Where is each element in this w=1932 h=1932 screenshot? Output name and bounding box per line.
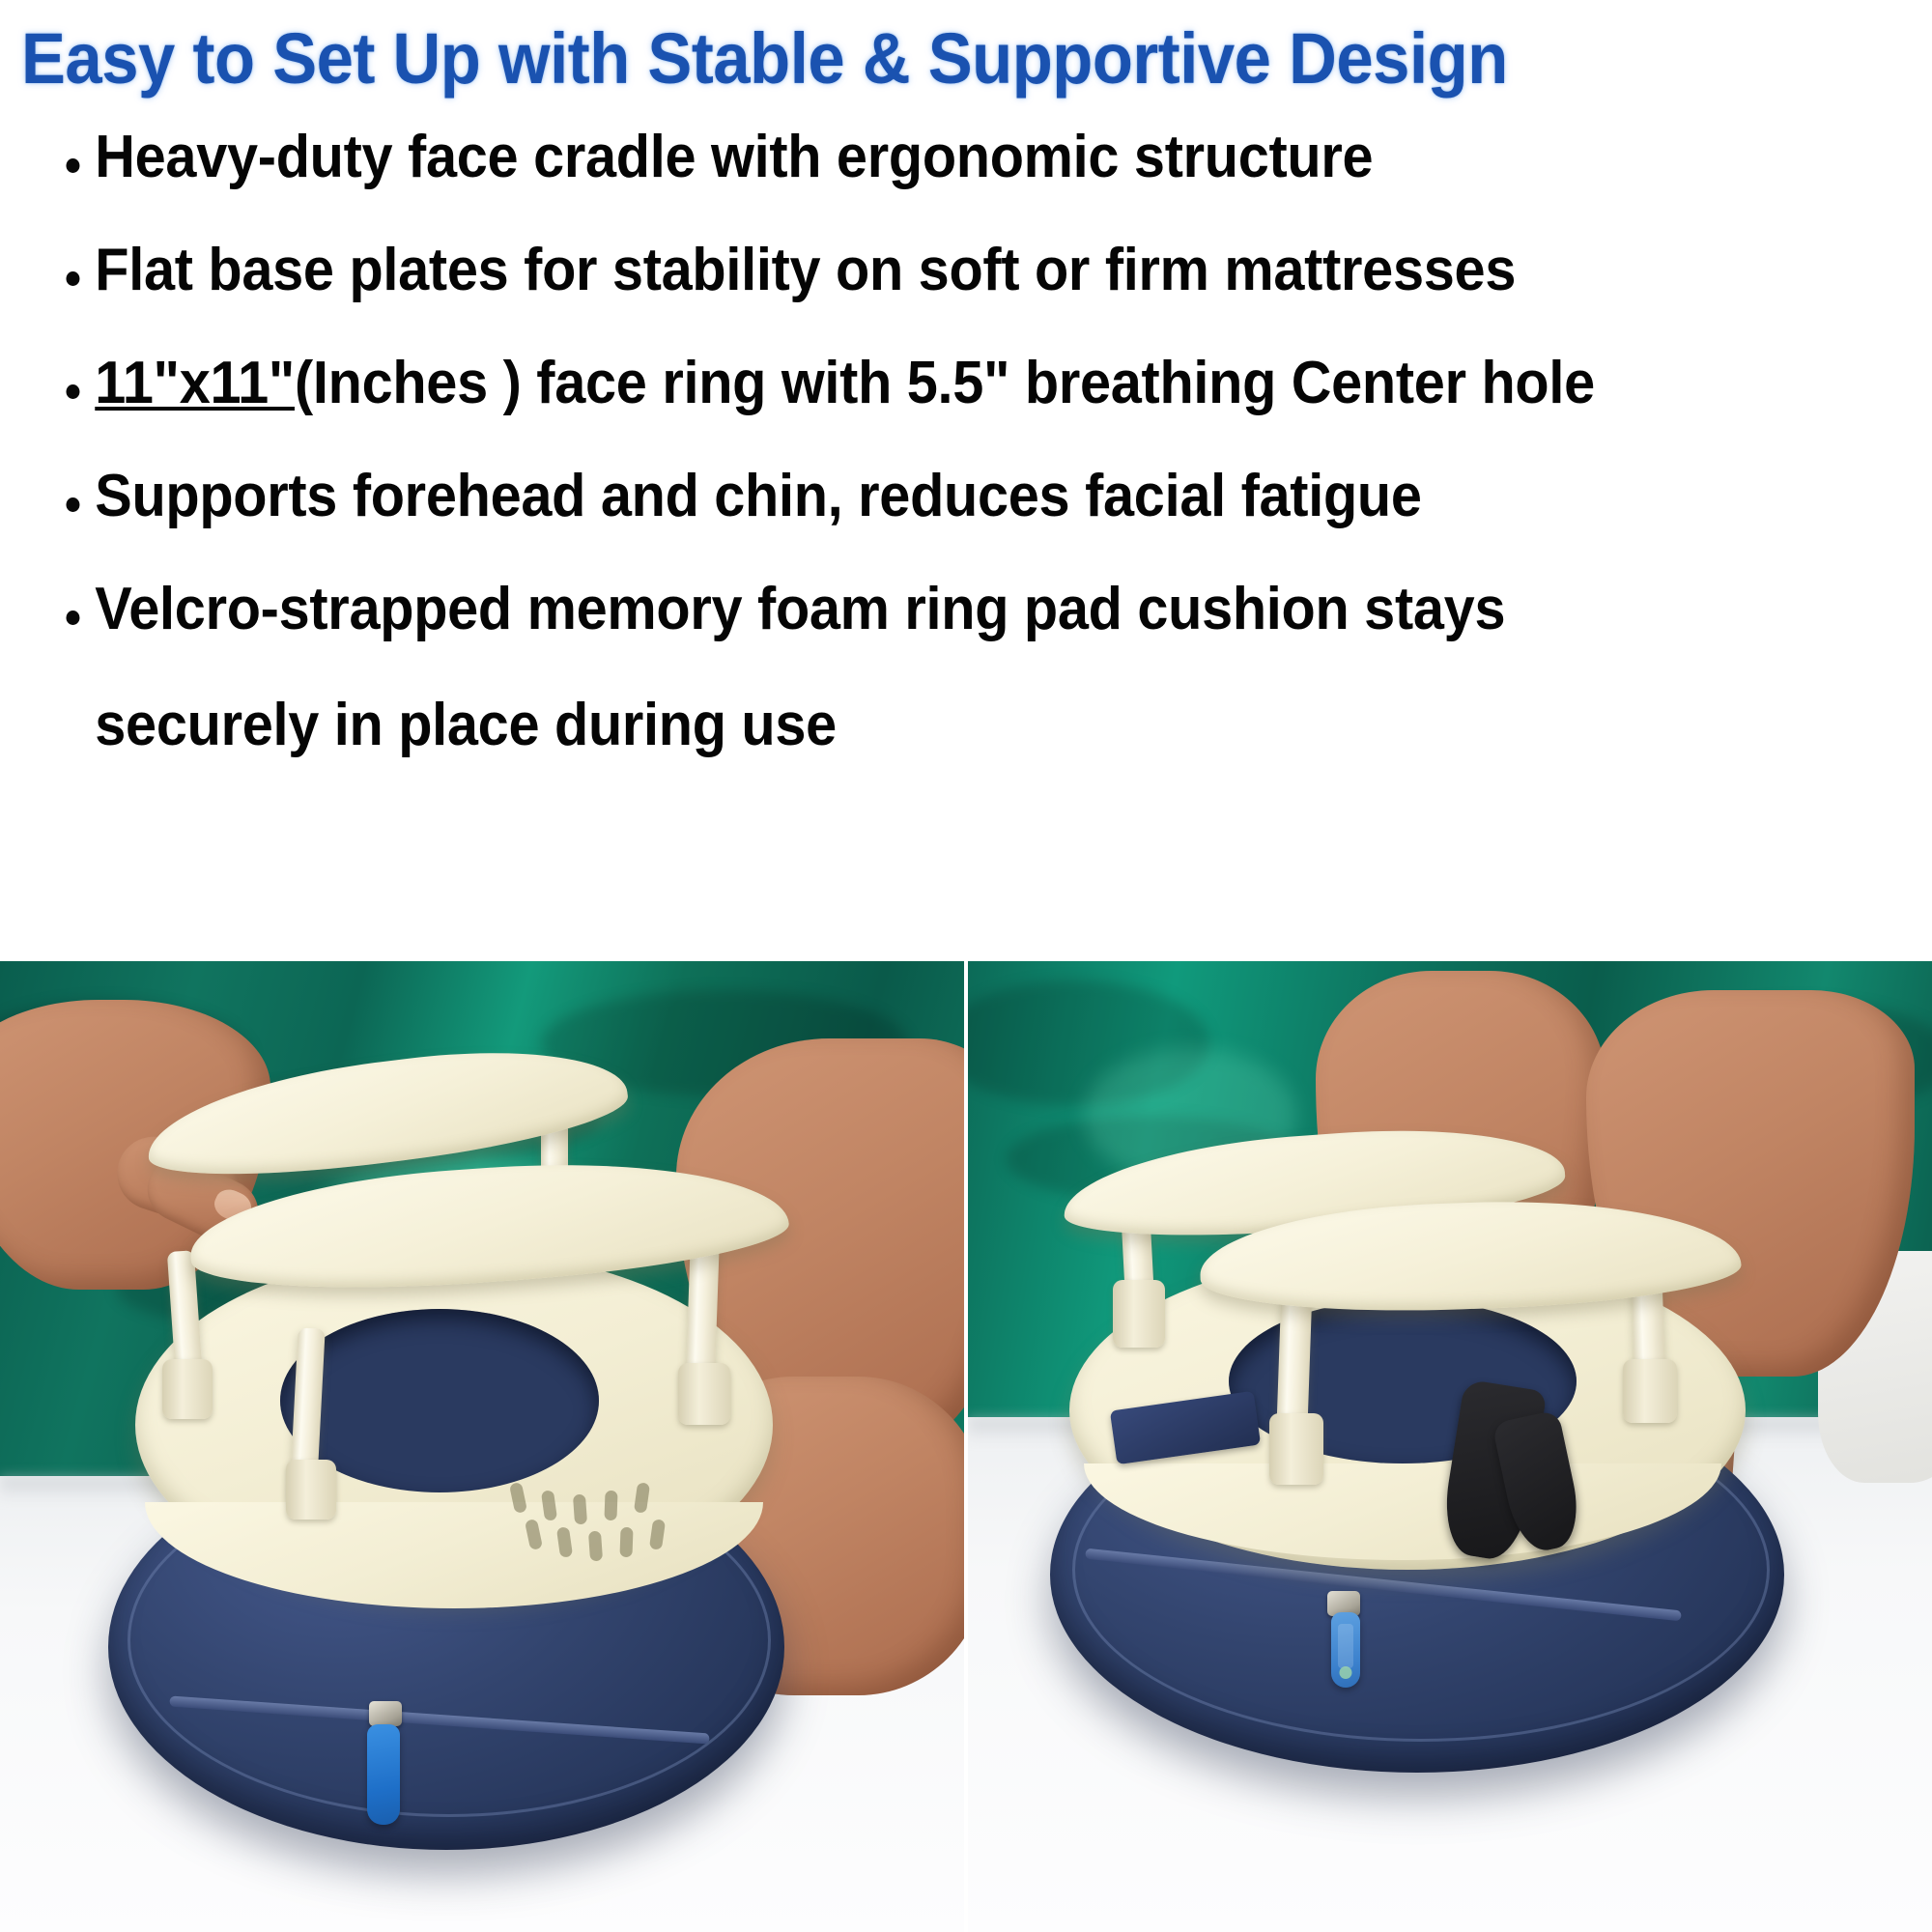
right-photo bbox=[968, 961, 1932, 1932]
list-item: Supports forehead and chin, reduces faci… bbox=[21, 467, 1772, 526]
feature-text-panel: Easy to Set Up with Stable & Supportive … bbox=[0, 0, 1932, 961]
zipper-tag-dot-icon bbox=[1340, 1666, 1352, 1679]
bullet-text: Heavy-duty face cradle with ergonomic st… bbox=[95, 128, 1771, 187]
bullet-text-rest: (Inches ) face ring with 5.5" breathing … bbox=[295, 350, 1595, 416]
bullet-text: Flat base plates for stability on soft o… bbox=[95, 241, 1771, 300]
bullet-text: Velcro-strapped memory foam ring pad cus… bbox=[95, 580, 1771, 639]
zipper-tag-logo-icon bbox=[1338, 1624, 1353, 1668]
list-item: Velcro-strapped memory foam ring pad cus… bbox=[21, 580, 1772, 755]
bullet-marker-icon bbox=[67, 611, 80, 625]
zipper-slider bbox=[369, 1701, 402, 1726]
bullet-marker-icon bbox=[67, 497, 80, 512]
zipper-pull-tab bbox=[1331, 1612, 1360, 1688]
feature-bullet-list: Heavy-duty face cradle with ergonomic st… bbox=[21, 128, 1903, 755]
bullet-marker-icon bbox=[67, 158, 80, 173]
bullet-text-wrap: securely in place during use bbox=[95, 696, 1771, 755]
dimension-emphasis: 11"x11" bbox=[95, 350, 295, 416]
zipper-pull-tab bbox=[367, 1724, 400, 1825]
product-photo-strip bbox=[0, 961, 1932, 1932]
infographic-page: Easy to Set Up with Stable & Supportive … bbox=[0, 0, 1932, 1932]
bullet-marker-icon bbox=[67, 384, 80, 399]
bullet-marker-icon bbox=[67, 271, 80, 286]
page-title: Easy to Set Up with Stable & Supportive … bbox=[21, 23, 1772, 95]
list-item: Flat base plates for stability on soft o… bbox=[21, 241, 1772, 300]
bullet-text-dimensions: 11"x11"(Inches ) face ring with 5.5" bre… bbox=[95, 354, 1771, 413]
list-item: Heavy-duty face cradle with ergonomic st… bbox=[21, 128, 1772, 187]
list-item: 11"x11"(Inches ) face ring with 5.5" bre… bbox=[21, 354, 1772, 413]
left-photo bbox=[0, 961, 964, 1932]
bullet-text: Supports forehead and chin, reduces faci… bbox=[95, 467, 1771, 526]
